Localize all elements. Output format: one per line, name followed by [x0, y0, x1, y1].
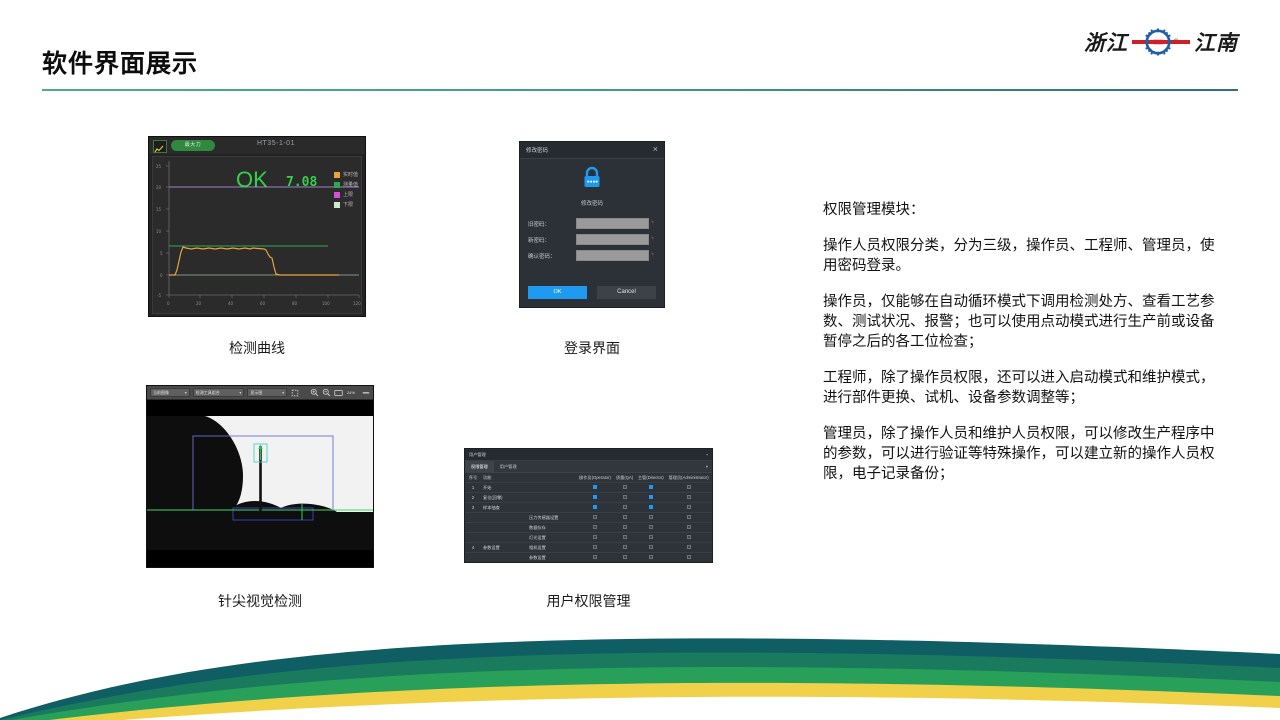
table-row[interactable]: 灯光设置 — [465, 533, 712, 543]
dialog-buttons: OK Cancel — [528, 286, 656, 299]
screenshot-detection-curve[interactable]: 最大力 HT35-1-01 25 — [148, 136, 366, 317]
tab-user-management[interactable]: 用户管理 — [494, 461, 523, 472]
curve-toolbar: 最大力 HT35-1-01 — [149, 137, 365, 154]
screenshot-needle-vision[interactable]: 当前图像 ▾ 检测工具组合 ▾ 显示图 ▾ 24% — [146, 385, 374, 568]
cell-subfunction: 标品视觉 — [527, 563, 577, 564]
table-header-row: 序号 功能 操作员(Operator) 质量(QA) 主管(Director) … — [465, 473, 712, 483]
caption-user-permission: 用户权限管理 — [464, 591, 713, 611]
cancel-button[interactable]: Cancel — [597, 286, 656, 299]
logo-right-text: 江南 — [1194, 27, 1238, 57]
checkbox[interactable] — [623, 515, 627, 519]
screenshot-user-permission[interactable]: 用户管理 ▪ 权限管理 用户管理 ▾ 序号 功能 操作员(Operator) 质… — [464, 448, 713, 563]
checkbox[interactable] — [623, 555, 627, 559]
checkbox[interactable] — [593, 495, 597, 499]
permission-window-title: 用户管理 — [469, 452, 486, 458]
cell-no — [465, 533, 481, 543]
curve-legend: 实时值 测量值 上限 下限 — [334, 171, 358, 208]
cell-no — [465, 553, 481, 563]
process-select[interactable]: 检测工具组合 ▾ — [193, 388, 245, 397]
svg-text:5: 5 — [160, 251, 163, 256]
cell-qa[interactable] — [614, 503, 636, 513]
cell-subfunction — [527, 483, 577, 493]
cell-operator[interactable] — [577, 533, 614, 543]
cell-subfunction: 相机设置 — [527, 543, 577, 553]
dialog-title-bar: 修改密码 × — [520, 142, 664, 159]
required-mark: * — [649, 237, 656, 243]
vision-image-svg — [147, 400, 373, 567]
paragraph-operator: 操作员，仅能够在自动循环模式下调用检测处方、查看工艺参数、测试状况、报警；也可以… — [823, 292, 1223, 352]
field-row-new-password: 新密码： * — [528, 234, 656, 245]
zoom-level-label: 24% — [347, 390, 355, 395]
col-header-subfunction — [527, 473, 577, 483]
permission-title-bar: 用户管理 ▪ — [465, 449, 712, 461]
checkbox[interactable] — [649, 525, 653, 529]
cell-director[interactable] — [636, 523, 667, 533]
cell-no: 2 — [465, 493, 481, 503]
legend-swatch — [334, 192, 340, 198]
paragraph-heading: 权限管理模块： — [823, 200, 1223, 220]
legend-swatch — [334, 172, 340, 178]
caption-needle-vision: 针尖视觉检测 — [146, 591, 374, 611]
cell-administrator[interactable] — [667, 553, 712, 563]
gear-icon — [1143, 27, 1173, 57]
ok-button[interactable]: OK — [528, 286, 587, 299]
cell-qa[interactable] — [614, 493, 636, 503]
cell-function: 开始 — [481, 483, 527, 493]
cell-director[interactable] — [636, 553, 667, 563]
old-password-input[interactable] — [576, 218, 649, 229]
field-row-confirm-password: 确认密码： * — [528, 250, 656, 261]
cell-subfunction — [527, 503, 577, 513]
required-mark: * — [649, 253, 656, 259]
col-header-qa: 质量(QA) — [614, 473, 636, 483]
fit-screen-icon[interactable] — [334, 388, 343, 397]
cell-administrator[interactable] — [667, 563, 712, 564]
chart-icon — [153, 140, 167, 153]
checkbox[interactable] — [687, 535, 691, 539]
col-header-function: 功能 — [481, 473, 527, 483]
cell-administrator[interactable] — [667, 483, 712, 493]
paragraph-engineer: 工程师，除了操作员权限，还可以进入启动模式和维护模式，进行部件更换、试机、设备参… — [823, 368, 1223, 408]
permission-table-body: 1 开始 2 复位(回零) — [465, 483, 712, 564]
chevron-down-icon: ▾ — [282, 388, 284, 397]
cell-administrator[interactable] — [667, 523, 712, 533]
cell-operator[interactable] — [577, 543, 614, 553]
cell-no: 3 — [465, 503, 481, 513]
cell-operator[interactable] — [577, 563, 614, 564]
checkbox[interactable] — [623, 545, 627, 549]
cell-qa[interactable] — [614, 513, 636, 523]
checkbox[interactable] — [623, 525, 627, 529]
cell-no: 1 — [465, 483, 481, 493]
cell-function: 复位(回零) — [481, 493, 527, 503]
checkbox[interactable] — [593, 555, 597, 559]
vision-image-area[interactable] — [147, 400, 373, 567]
table-row[interactable]: 标品视觉 — [465, 563, 712, 564]
company-logo: 浙江 — [1084, 22, 1238, 62]
svg-text:100: 100 — [322, 301, 330, 306]
table-row[interactable]: 3 样本抽查 — [465, 503, 712, 513]
cell-director[interactable] — [636, 513, 667, 523]
caption-login-dialog: 登录界面 — [519, 338, 665, 358]
confirm-password-input[interactable] — [576, 250, 649, 261]
checkbox[interactable] — [687, 485, 691, 489]
menu-icon[interactable] — [361, 388, 370, 397]
dialog-fields: 旧密码： * 新密码： * 确认密码： * — [528, 218, 656, 266]
camera-select[interactable]: 当前图像 ▾ — [150, 388, 190, 397]
cell-operator[interactable] — [577, 553, 614, 563]
legend-swatch — [334, 202, 340, 208]
cell-operator[interactable] — [577, 493, 614, 503]
field-row-old-password: 旧密码： * — [528, 218, 656, 229]
svg-text:-5: -5 — [157, 293, 161, 298]
checkbox[interactable] — [649, 555, 653, 559]
cell-subfunction — [527, 493, 577, 503]
tab-permission-management[interactable]: 权限管理 — [465, 461, 494, 472]
new-password-input[interactable] — [576, 234, 649, 245]
cell-operator[interactable] — [577, 483, 614, 493]
svg-text:15: 15 — [156, 207, 162, 212]
cell-director[interactable] — [636, 533, 667, 543]
svg-text:40: 40 — [228, 301, 234, 306]
permission-table: 序号 功能 操作员(Operator) 质量(QA) 主管(Director) … — [465, 473, 712, 563]
cell-subfunction: 参数设置 — [527, 553, 577, 563]
checkbox[interactable] — [649, 495, 653, 499]
zoom-in-icon[interactable] — [310, 388, 319, 397]
cell-function — [481, 563, 527, 564]
checkbox[interactable] — [623, 535, 627, 539]
svg-text:80: 80 — [292, 301, 298, 306]
body-text-block: 权限管理模块： 操作人员权限分类，分为三级，操作员、工程师、管理员，使用密码登录… — [823, 200, 1223, 484]
checkbox[interactable] — [593, 525, 597, 529]
cell-administrator[interactable] — [667, 493, 712, 503]
caption-detection-curve: 检测曲线 — [148, 338, 366, 358]
legend-label: 测量值 — [343, 181, 358, 188]
cell-operator[interactable] — [577, 503, 614, 513]
page-title: 软件界面展示 — [42, 44, 198, 80]
col-header-operator: 操作员(Operator) — [577, 473, 614, 483]
checkbox[interactable] — [593, 515, 597, 519]
checkbox[interactable] — [687, 515, 691, 519]
checkbox[interactable] — [687, 495, 691, 499]
cell-operator[interactable] — [577, 523, 614, 533]
checkbox[interactable] — [687, 545, 691, 549]
logo-gear-mark: ® — [1132, 25, 1190, 59]
cell-function — [481, 523, 527, 533]
col-header-no: 序号 — [465, 473, 481, 483]
cell-function: 样本抽查 — [481, 503, 527, 513]
dialog-subtitle: 修改密码 — [520, 199, 664, 207]
dialog-title: 修改密码 — [526, 146, 548, 154]
svg-text:20: 20 — [196, 301, 202, 306]
cell-director[interactable] — [636, 563, 667, 564]
screenshot-login-dialog[interactable]: 修改密码 × 修改密码 旧密码： * 新密码 — [519, 141, 665, 308]
cell-director[interactable] — [636, 503, 667, 513]
cell-operator[interactable] — [577, 513, 614, 523]
cell-function — [481, 513, 527, 523]
chevron-down-icon: ▾ — [239, 388, 241, 397]
legend-swatch — [334, 182, 340, 188]
minimize-icon[interactable]: ▪ — [707, 452, 709, 457]
table-row[interactable]: 数据存存 — [465, 523, 712, 533]
fit-frame-icon[interactable] — [290, 388, 299, 397]
cell-qa[interactable] — [614, 553, 636, 563]
curve-header-code: HT35-1-01 — [257, 140, 295, 147]
svg-text:25: 25 — [156, 164, 162, 169]
table-row[interactable]: 压力传感器设置 — [465, 513, 712, 523]
cell-administrator[interactable] — [667, 513, 712, 523]
lock-icon — [520, 166, 664, 190]
checkbox[interactable] — [687, 555, 691, 559]
permission-tabs: 权限管理 用户管理 ▾ — [465, 461, 712, 473]
old-password-label: 旧密码： — [528, 220, 576, 228]
legend-item: 实时值 — [334, 171, 358, 178]
slide: 软件界面展示 浙江 — [0, 0, 1280, 720]
checkbox[interactable] — [649, 515, 653, 519]
svg-text:20: 20 — [156, 185, 162, 190]
table-row[interactable]: 4 参数设置 相机设置 — [465, 543, 712, 553]
svg-text:60: 60 — [260, 301, 266, 306]
table-row[interactable]: 1 开始 — [465, 483, 712, 493]
cell-function — [481, 533, 527, 543]
checkbox[interactable] — [649, 505, 653, 509]
checkbox[interactable] — [593, 485, 597, 489]
curve-status: OK — [236, 167, 268, 193]
cell-no — [465, 563, 481, 564]
cell-administrator[interactable] — [667, 503, 712, 513]
legend-label: 实时值 — [343, 171, 358, 178]
chevron-down-icon[interactable]: ▾ — [706, 464, 708, 469]
footer-decoration — [0, 610, 1280, 720]
confirm-password-label: 确认密码： — [528, 252, 576, 260]
vision-toolbar: 当前图像 ▾ 检测工具组合 ▾ 显示图 ▾ 24% — [147, 386, 373, 400]
table-row[interactable]: 2 复位(回零) — [465, 493, 712, 503]
cell-director[interactable] — [636, 483, 667, 493]
paragraph-administrator: 管理员，除了操作人员和维护人员权限，可以修改生产程序中的参数，可以进行验证等特殊… — [823, 424, 1223, 484]
checkbox[interactable] — [649, 485, 653, 489]
col-header-director: 主管(Director) — [636, 473, 667, 483]
cell-no: 4 — [465, 543, 481, 553]
close-icon[interactable]: × — [653, 144, 658, 155]
cell-subfunction: 灯光设置 — [527, 533, 577, 543]
legend-label: 下限 — [343, 201, 353, 208]
cell-no — [465, 513, 481, 523]
logo-left-text: 浙江 — [1084, 27, 1128, 57]
cell-function: 参数设置 — [481, 543, 527, 553]
cell-qa[interactable] — [614, 533, 636, 543]
display-select[interactable]: 显示图 ▾ — [247, 388, 287, 397]
svg-text:0: 0 — [167, 301, 170, 306]
cell-administrator[interactable] — [667, 533, 712, 543]
legend-item: 上限 — [334, 191, 358, 198]
cell-qa[interactable] — [614, 543, 636, 553]
required-mark: * — [649, 221, 656, 227]
cell-director[interactable] — [636, 543, 667, 553]
table-row[interactable]: 参数设置 — [465, 553, 712, 563]
checkbox[interactable] — [623, 495, 627, 499]
cell-administrator[interactable] — [667, 543, 712, 553]
svg-text:10: 10 — [156, 229, 162, 234]
curve-plot-area: 25 20 15 10 5 0 -5 — [152, 156, 362, 314]
legend-item: 测量值 — [334, 181, 358, 188]
display-select-value: 显示图 — [250, 388, 262, 397]
checkbox[interactable] — [593, 505, 597, 509]
checkbox[interactable] — [593, 545, 597, 549]
cell-qa[interactable] — [614, 483, 636, 493]
cell-no — [465, 523, 481, 533]
checkbox[interactable] — [687, 525, 691, 529]
cell-function — [481, 553, 527, 563]
cell-director[interactable] — [636, 493, 667, 503]
zoom-out-icon[interactable] — [322, 388, 331, 397]
curve-mode-pill[interactable]: 最大力 — [171, 140, 215, 151]
checkbox[interactable] — [593, 535, 597, 539]
svg-text:0: 0 — [160, 273, 163, 278]
checkbox[interactable] — [687, 505, 691, 509]
process-select-value: 检测工具组合 — [196, 388, 220, 397]
camera-select-value: 当前图像 — [153, 388, 169, 397]
cell-qa[interactable] — [614, 523, 636, 533]
cell-qa[interactable] — [614, 563, 636, 564]
checkbox[interactable] — [649, 535, 653, 539]
title-divider — [42, 89, 1238, 91]
svg-text:120: 120 — [353, 301, 361, 306]
paragraph-roles: 操作人员权限分类，分为三级，操作员、工程师、管理员，使用密码登录。 — [823, 236, 1223, 276]
cell-subfunction: 数据存存 — [527, 523, 577, 533]
checkbox[interactable] — [623, 505, 627, 509]
chevron-down-icon: ▾ — [185, 388, 187, 397]
col-header-administrator: 管理员(Administrator) — [667, 473, 712, 483]
checkbox[interactable] — [623, 485, 627, 489]
legend-label: 上限 — [343, 191, 353, 198]
checkbox[interactable] — [649, 545, 653, 549]
new-password-label: 新密码： — [528, 236, 576, 244]
legend-item: 下限 — [334, 201, 358, 208]
cell-subfunction: 压力传感器设置 — [527, 513, 577, 523]
curve-value: 7.08 — [286, 175, 317, 190]
